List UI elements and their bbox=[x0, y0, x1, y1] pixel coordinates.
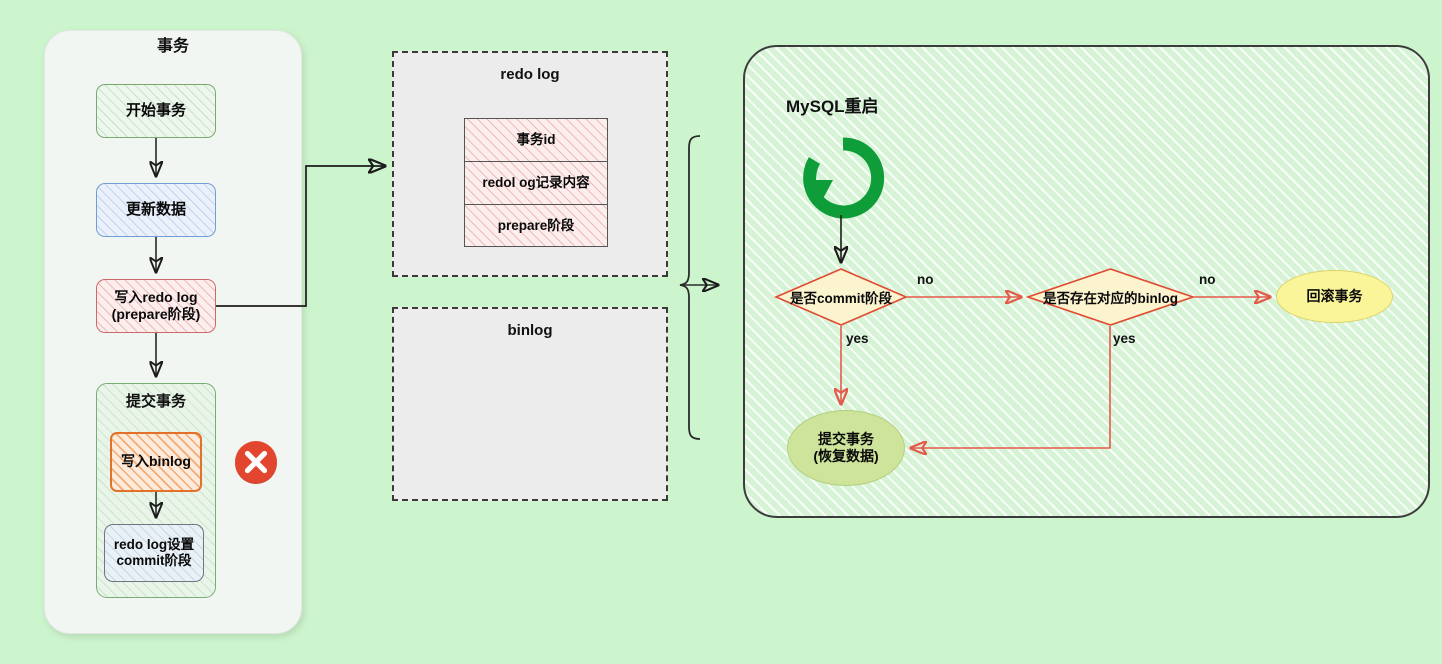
step-write-redo-log-line2: (prepare阶段) bbox=[112, 306, 201, 323]
step-redo-commit-line1: redo log设置 bbox=[114, 537, 194, 553]
edge-label-yes-commit-stage: yes bbox=[846, 331, 869, 346]
redo-log-panel-title: redo log bbox=[392, 62, 668, 88]
commit-transaction-group-title: 提交事务 bbox=[96, 390, 216, 414]
decision-binlog-exists-label: 是否存在对应的binlog bbox=[1027, 268, 1194, 326]
logs-group-brace bbox=[680, 136, 700, 439]
redo-log-record-table: 事务id redol og记录内容 prepare阶段 bbox=[464, 118, 608, 247]
step-redo-log-set-commit[interactable]: redo log设置 commit阶段 bbox=[104, 524, 204, 582]
redo-log-row: prepare阶段 bbox=[465, 205, 607, 248]
step-write-redo-log-line1: 写入redo log bbox=[112, 289, 201, 306]
binlog-panel-title: binlog bbox=[392, 318, 668, 344]
redo-log-row: 事务id bbox=[465, 119, 607, 162]
redo-log-row: redol og记录内容 bbox=[465, 162, 607, 205]
outcome-rollback[interactable]: 回滚事务 bbox=[1276, 270, 1393, 323]
edge-label-yes-binlog-exists: yes bbox=[1113, 331, 1136, 346]
outcome-commit-recover[interactable]: 提交事务 (恢复数据) bbox=[787, 410, 905, 486]
decision-commit-stage[interactable]: 是否commit阶段 bbox=[775, 268, 907, 326]
outcome-commit-recover-line2: (恢复数据) bbox=[813, 448, 878, 465]
decision-commit-stage-label: 是否commit阶段 bbox=[775, 268, 907, 326]
edge-label-no-binlog-exists: no bbox=[1199, 272, 1216, 287]
mysql-restart-title: MySQL重启 bbox=[786, 93, 956, 121]
step-redo-commit-line2: commit阶段 bbox=[114, 553, 194, 569]
step-write-redo-log-prepare[interactable]: 写入redo log (prepare阶段) bbox=[96, 279, 216, 333]
decision-binlog-exists[interactable]: 是否存在对应的binlog bbox=[1027, 268, 1194, 326]
step-begin-transaction[interactable]: 开始事务 bbox=[96, 84, 216, 138]
edge-label-no-commit-stage: no bbox=[917, 272, 934, 287]
outcome-commit-recover-line1: 提交事务 bbox=[813, 431, 878, 448]
restart-circular-arrow-icon bbox=[799, 136, 887, 220]
step-write-binlog[interactable]: 写入binlog bbox=[110, 432, 202, 492]
transaction-card-title: 事务 bbox=[44, 32, 302, 62]
error-cross-icon bbox=[233, 439, 279, 485]
diagram-canvas: 事务 开始事务 更新数据 写入redo log (prepare阶段) 提交事务… bbox=[0, 0, 1442, 664]
step-update-data[interactable]: 更新数据 bbox=[96, 183, 216, 237]
